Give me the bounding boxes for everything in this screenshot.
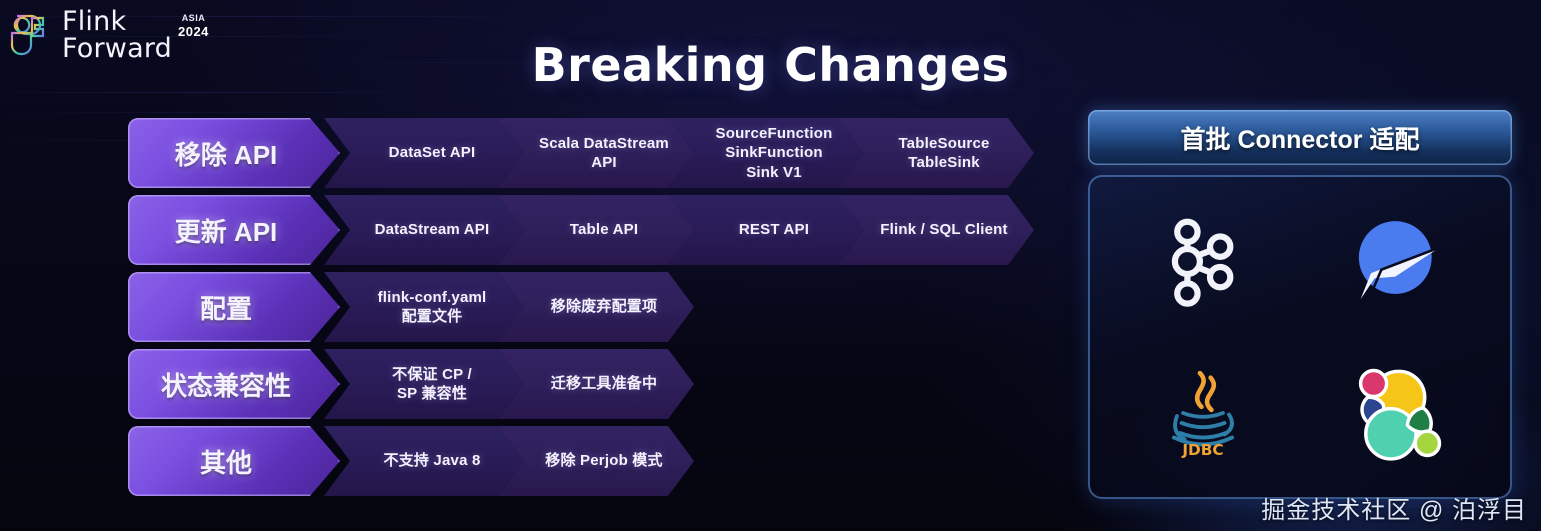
- watermark: 掘金技术社区 @ 泊浮目: [1261, 490, 1527, 525]
- flow-step-label: REST API: [709, 220, 823, 239]
- flow-step-label: 迁移工具准备中: [521, 374, 671, 393]
- flow-row-head[interactable]: 更新 API: [128, 195, 340, 265]
- flow-row-head[interactable]: 状态兼容性: [128, 349, 340, 419]
- flow-step-label: DataStream API: [345, 220, 504, 239]
- flow-step[interactable]: Scala DataStream API: [498, 118, 694, 188]
- connector-logo-grid: JDBC: [1088, 175, 1512, 499]
- paimon-logo-icon: [1300, 185, 1494, 337]
- flow-step[interactable]: 迁移工具准备中: [498, 349, 694, 419]
- page-title: Breaking Changes: [0, 38, 1541, 92]
- flow-step[interactable]: 不支持 Java 8: [324, 426, 524, 496]
- flow-step[interactable]: SourceFunction SinkFunction Sink V1: [668, 118, 864, 188]
- flow-step[interactable]: DataStream API: [324, 195, 524, 265]
- flow-row-head-label: 移除 API: [167, 135, 302, 172]
- flow-step-label: DataSet API: [359, 143, 490, 162]
- logo-badge-region: ASIA: [182, 14, 206, 23]
- flow-step-label: 移除废弃配置项: [521, 297, 671, 316]
- flow-step[interactable]: Flink / SQL Client: [838, 195, 1034, 265]
- flow-step-label: flink-conf.yaml 配置文件: [348, 288, 501, 326]
- flow-row-head-label: 配置: [192, 289, 276, 326]
- flow-step[interactable]: flink-conf.yaml 配置文件: [324, 272, 524, 342]
- flow-step[interactable]: 移除废弃配置项: [498, 272, 694, 342]
- flow-step-label: SourceFunction SinkFunction Sink V1: [686, 124, 847, 182]
- connector-panel: 首批 Connector 适配: [1088, 110, 1512, 499]
- logo-badge-year: 2024: [178, 25, 209, 38]
- flow-step[interactable]: TableSource TableSink: [838, 118, 1034, 188]
- logo-edition-badge: ASIA 2024: [178, 14, 209, 38]
- connector-panel-header: 首批 Connector 适配: [1088, 110, 1512, 165]
- elasticsearch-logo-icon: [1300, 337, 1494, 489]
- slide-root: Flink Forward ASIA 2024 Breaking Changes…: [0, 0, 1541, 531]
- flow-step-label: Table API: [540, 220, 652, 239]
- flow-row-head-label: 更新 API: [167, 212, 302, 249]
- flow-step[interactable]: 移除 Perjob 模式: [498, 426, 694, 496]
- jdbc-logo-icon: JDBC: [1106, 337, 1300, 489]
- flow-step[interactable]: 不保证 CP / SP 兼容性: [324, 349, 524, 419]
- flow-step[interactable]: Table API: [498, 195, 694, 265]
- flow-step-label: 不保证 CP / SP 兼容性: [362, 365, 486, 403]
- flow-step[interactable]: REST API: [668, 195, 864, 265]
- flow-step-label: Flink / SQL Client: [850, 220, 1022, 239]
- flow-step-label: 不支持 Java 8: [353, 451, 494, 470]
- flow-row-head-label: 其他: [192, 443, 276, 480]
- logo-name-line1: Flink: [62, 10, 172, 35]
- flow-step-label: 移除 Perjob 模式: [515, 451, 676, 470]
- flow-row-head[interactable]: 其他: [128, 426, 340, 496]
- flow-row-head[interactable]: 配置: [128, 272, 340, 342]
- flow-row-head-label: 状态兼容性: [153, 366, 315, 403]
- svg-text:JDBC: JDBC: [1181, 441, 1223, 459]
- flow-step-label: Scala DataStream API: [509, 134, 683, 172]
- kafka-logo-icon: [1106, 185, 1300, 337]
- flow-step-label: TableSource TableSink: [868, 134, 1003, 172]
- flow-row-head[interactable]: 移除 API: [128, 118, 340, 188]
- flow-step[interactable]: DataSet API: [324, 118, 524, 188]
